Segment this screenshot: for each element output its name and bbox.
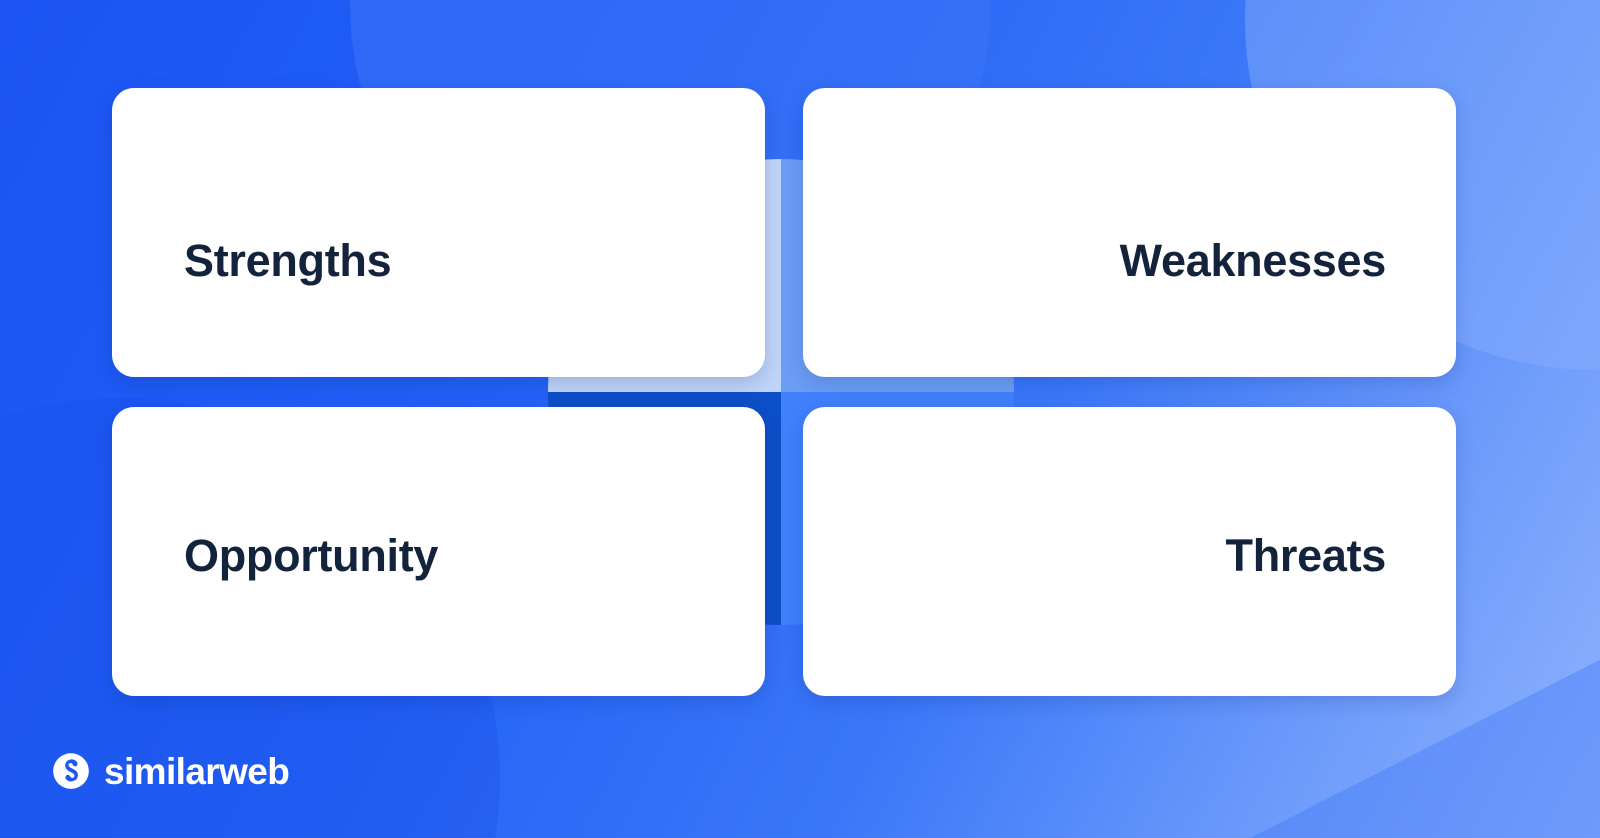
swot-card-title-opportunity: Opportunity xyxy=(184,531,438,581)
swot-diagram: S W O T Strengths Weaknesses Opportunity… xyxy=(0,0,1600,838)
similarweb-wordmark: similarweb xyxy=(104,753,289,790)
swot-card-weaknesses: Weaknesses xyxy=(803,88,1456,377)
swot-card-title-strengths: Strengths xyxy=(184,236,391,286)
swot-card-grid: Strengths Weaknesses Opportunity Threats xyxy=(112,88,1456,696)
swot-card-title-weaknesses: Weaknesses xyxy=(1120,236,1386,286)
swot-card-title-threats: Threats xyxy=(1226,531,1386,581)
swot-card-strengths: Strengths xyxy=(112,88,765,377)
similarweb-logo: similarweb xyxy=(52,752,289,790)
swot-card-opportunity: Opportunity xyxy=(112,407,765,696)
swot-card-threats: Threats xyxy=(803,407,1456,696)
similarweb-s-mark-icon xyxy=(52,752,90,790)
